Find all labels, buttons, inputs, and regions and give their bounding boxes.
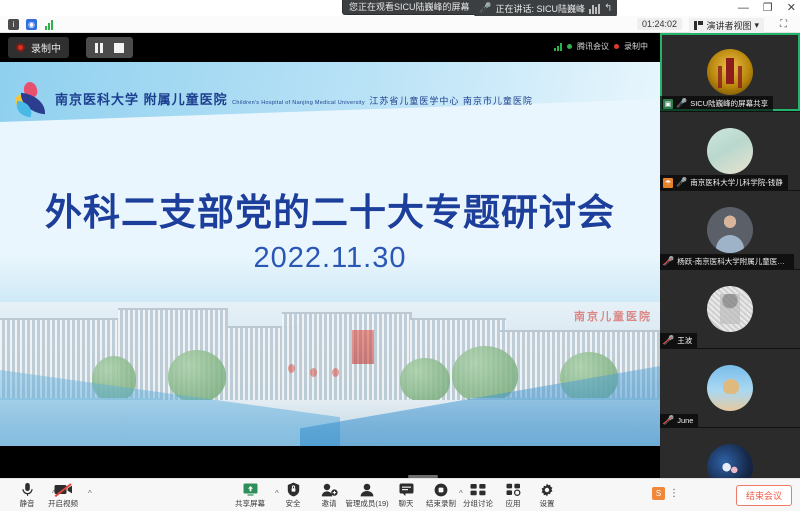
record-dot-icon <box>16 43 25 52</box>
speaker-view-icon <box>694 21 703 30</box>
fullscreen-icon[interactable]: ⛶ <box>780 19 792 30</box>
stop-record-icon <box>434 482 448 497</box>
screen-share-icon: ▣ <box>663 99 673 109</box>
apps-label: 应用 <box>506 498 521 509</box>
mic-off-icon: 🎤 <box>663 416 674 425</box>
chat-bubble-icon <box>399 482 414 497</box>
invite-person-icon <box>321 482 338 497</box>
settings-label: 设置 <box>540 498 555 509</box>
recording-indicator-label: 录制中 <box>624 41 648 52</box>
slide-date: 2022.11.30 <box>0 242 660 275</box>
participant-name: 杨跃-南京医科大学附属儿童医院骨科 <box>677 256 789 267</box>
status-dot-red-icon <box>614 44 619 49</box>
hospital-logo-icon <box>14 82 48 118</box>
audio-wave-icon <box>589 4 600 14</box>
mic-on-icon: 🎤 <box>676 178 687 187</box>
stop-recording-label: 结束录制 <box>426 498 456 509</box>
participant-tile[interactable]: 🎤 王波 <box>660 270 800 349</box>
signal-icon <box>554 43 562 51</box>
info-icon[interactable]: i <box>8 19 19 30</box>
shared-content-area: 录制中 腾讯会议 录制中 <box>0 33 660 478</box>
stop-icon[interactable] <box>114 43 124 53</box>
video-off-icon <box>54 482 73 497</box>
mic-off-icon: 🎤 <box>663 257 674 266</box>
hospital-subtitle: 江苏省儿童医学中心 南京市儿童医院 <box>369 96 533 106</box>
tray-more-icon[interactable]: ⋮ <box>669 488 679 499</box>
chevron-down-icon: ▾ <box>754 20 759 31</box>
share-screen-button[interactable]: 共享屏幕 <box>227 482 273 509</box>
slide-letterbox <box>0 446 660 462</box>
microphone-icon <box>21 482 34 497</box>
view-mode-label: 演讲者视图 <box>706 19 751 32</box>
screen-share-notice[interactable]: 您正在观看SICU陆巍峰的屏幕 ☰ <box>342 0 487 15</box>
participant-label: ▣ 🎤 SICU陆巍峰的屏幕共享 <box>660 96 773 111</box>
minimize-button[interactable]: — <box>738 1 749 15</box>
participant-name: SICU陆巍峰的屏幕共享 <box>690 98 768 109</box>
chat-label: 聊天 <box>399 498 414 509</box>
restore-button[interactable]: ❐ <box>763 1 773 15</box>
video-options-caret[interactable]: ^ <box>88 489 92 498</box>
participant-label: 🎤 王波 <box>660 333 697 348</box>
participant-label: 🎤 June <box>660 414 698 427</box>
avatar <box>707 128 753 174</box>
presentation-slide: 南京医科大学 附属儿童医院 Children's Hospital of Nan… <box>0 62 660 462</box>
participant-name: 王波 <box>677 335 692 346</box>
avatar <box>707 49 753 95</box>
breakout-rooms-icon <box>470 482 486 497</box>
participant-tile[interactable]: 🎤 杨跃-南京医科大学附属儿童医院骨科 <box>660 191 800 270</box>
avatar <box>707 286 753 332</box>
view-mode-selector[interactable]: 演讲者视图 ▾ <box>689 18 764 33</box>
signal-icon[interactable] <box>44 19 55 30</box>
hospital-name-en: Children's Hospital of Nanjing Medical U… <box>232 100 365 106</box>
status-dot-green-icon <box>567 44 572 49</box>
hospital-sign-text: 南京儿童医院 <box>574 308 652 324</box>
recording-controls <box>86 37 133 58</box>
participant-label: ☂ 🎤 南京医科大学儿科学院-钱静 <box>660 175 788 190</box>
system-tray: S ⋮ <box>652 487 679 500</box>
screen-share-notice-label: 您正在观看SICU陆巍峰的屏幕 <box>349 0 470 15</box>
participant-panel[interactable]: ▣ 🎤 SICU陆巍峰的屏幕共享 ☂ 🎤 南京医科大学儿科学院-钱静 🎤 杨跃-… <box>660 33 800 478</box>
window-controls: — ❐ ✕ <box>738 1 796 15</box>
tray-app-icon[interactable]: S <box>652 487 665 500</box>
mute-label: 静音 <box>20 498 35 509</box>
secondary-toolbar: i ◉ 01:24:02 演讲者视图 ▾ ⛶ <box>0 16 800 33</box>
os-top-strip: 您正在观看SICU陆巍峰的屏幕 ☰ 🎤 正在讲话: SICU陆巍峰 ↰ — ❐ … <box>0 0 800 16</box>
recording-bar: 录制中 腾讯会议 录制中 <box>0 33 660 62</box>
recording-meta: 腾讯会议 录制中 <box>554 41 648 52</box>
avatar <box>707 444 753 478</box>
participant-name: June <box>677 416 693 425</box>
invite-label: 邀请 <box>322 498 337 509</box>
mic-on-icon: 🎤 <box>676 99 687 108</box>
recording-status-chip: 录制中 <box>8 37 69 58</box>
settings-button[interactable]: 设置 <box>524 482 570 509</box>
participant-label: 🎤 杨跃-南京医科大学附属儿童医院骨科 <box>660 254 794 269</box>
breakout-rooms-label: 分组讨论 <box>463 498 493 509</box>
gear-icon <box>540 482 554 497</box>
mic-off-icon: 🎤 <box>663 336 674 345</box>
shield-icon[interactable]: ◉ <box>26 19 37 30</box>
entrance-banner <box>352 330 374 364</box>
start-video-label: 开启视频 <box>48 498 78 509</box>
host-icon: ☂ <box>663 178 673 188</box>
recording-status-label: 录制中 <box>31 40 61 55</box>
participant-name: 南京医科大学儿科学院-钱静 <box>690 177 783 188</box>
slide-title: 外科二支部党的二十大专题研讨会 <box>0 182 660 236</box>
slide-photo: 南京儿童医院 <box>0 302 660 462</box>
avatar <box>707 365 753 411</box>
pause-icon[interactable] <box>95 43 104 53</box>
meeting-timer: 01:24:02 <box>637 18 682 30</box>
meeting-toolbar: 静音 ^ 开启视频 ^ 共享屏幕 ^ 安全 <box>0 478 800 511</box>
participant-tile[interactable]: ☂ 🎤 南京医科大学儿科学院-钱静 <box>660 112 800 191</box>
people-icon <box>359 482 375 497</box>
close-button[interactable]: ✕ <box>787 1 796 15</box>
avatar <box>707 207 753 253</box>
security-label: 安全 <box>286 498 301 509</box>
hospital-logo: 南京医科大学 附属儿童医院 Children's Hospital of Nan… <box>14 82 533 118</box>
participant-tile[interactable]: ⌄ <box>660 428 800 478</box>
apps-grid-icon <box>506 482 521 497</box>
meeting-window: 您正在观看SICU陆巍峰的屏幕 ☰ 🎤 正在讲话: SICU陆巍峰 ↰ — ❐ … <box>0 0 800 511</box>
participant-tile[interactable]: ▣ 🎤 SICU陆巍峰的屏幕共享 <box>660 33 800 112</box>
start-video-button[interactable]: 开启视频 <box>40 482 86 509</box>
participant-tile[interactable]: 🎤 June <box>660 349 800 428</box>
share-screen-icon <box>243 482 258 497</box>
end-meeting-button[interactable]: 结束会议 <box>736 485 792 506</box>
shield-icon <box>287 482 300 497</box>
share-screen-label: 共享屏幕 <box>235 498 265 509</box>
app-name-label: 腾讯会议 <box>577 41 609 52</box>
hospital-name-cn: 南京医科大学 附属儿童医院 <box>55 92 228 107</box>
